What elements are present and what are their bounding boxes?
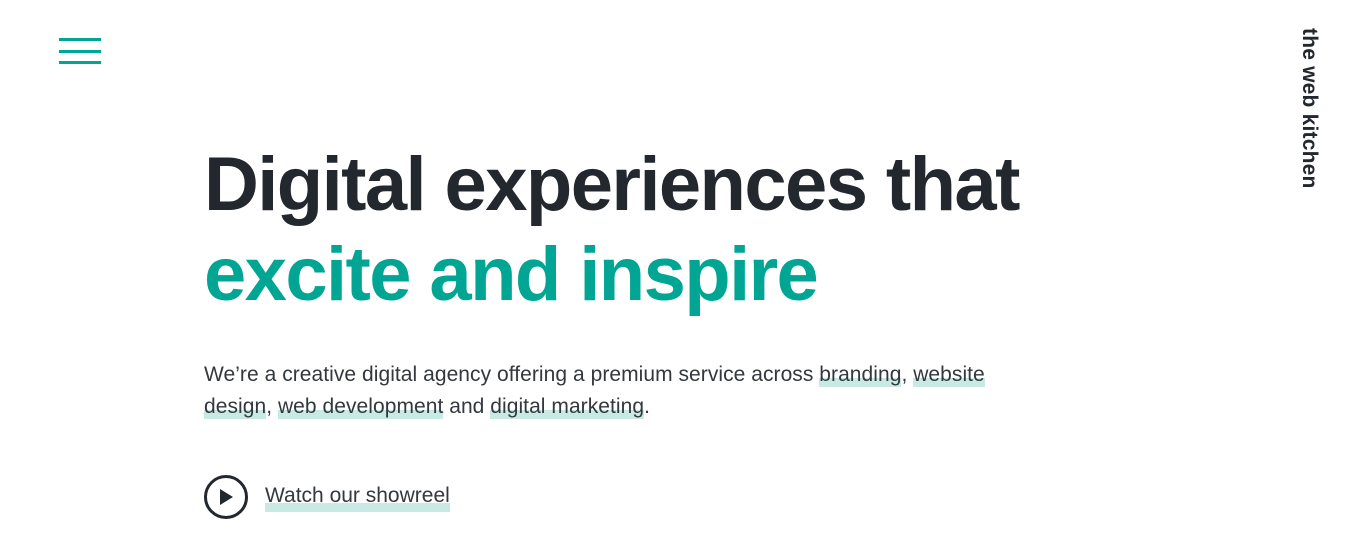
watch-showreel-link[interactable]: Watch our showreel [204, 475, 450, 519]
hamburger-menu-button[interactable] [59, 38, 101, 64]
brand-wordmark[interactable]: the web kitchen [1299, 28, 1320, 189]
subhead-text: and [443, 395, 490, 418]
hero-content: Digital experiences that excite and insp… [204, 140, 1204, 519]
hamburger-bar-1 [59, 38, 101, 41]
watch-showreel-label: Watch our showreel [265, 482, 450, 512]
hero-page: the web kitchen Digital experiences that… [0, 0, 1350, 557]
headline-line-2: excite and inspire [204, 230, 1204, 320]
play-icon [204, 475, 248, 519]
subhead-link-digital-marketing[interactable]: digital marketing [490, 395, 644, 419]
subhead-link-branding[interactable]: branding [819, 363, 901, 387]
subhead-text: , [901, 363, 913, 386]
subhead-link-web-development[interactable]: web development [278, 395, 443, 419]
subhead-text: , [266, 395, 278, 418]
subhead-text: . [644, 395, 650, 418]
page-title: Digital experiences that excite and insp… [204, 140, 1204, 321]
hero-subheading: We’re a creative digital agency offering… [204, 321, 1004, 423]
hamburger-bar-3 [59, 61, 101, 64]
subhead-text: We’re a creative digital agency offering… [204, 363, 819, 386]
hamburger-bar-2 [59, 50, 101, 53]
headline-line-1: Digital experiences that [204, 142, 1019, 227]
